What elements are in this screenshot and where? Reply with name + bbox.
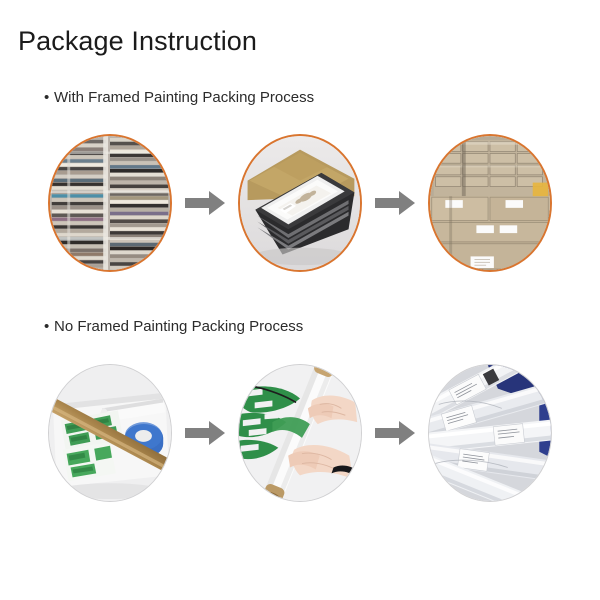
process-step-framed-stock: Stacked framed paintings in warehouse st… xyxy=(46,133,174,273)
arrow-connector-2 xyxy=(364,133,426,273)
section-heading-label: With Framed Painting Packing Process xyxy=(54,89,314,106)
rolled-canvas-and-tube-photo: Rolled canvas prints with kraft tube and… xyxy=(48,364,172,502)
bullet-icon: • xyxy=(44,88,54,108)
page-title: Package Instruction xyxy=(18,24,257,58)
arrow-right-icon xyxy=(375,190,415,216)
process-step-framed-pallet: Sealed cartons stacked and labelled read… xyxy=(426,133,554,273)
process-step-tube-insert: Hands inserting rolled canvas into a mai… xyxy=(236,363,364,503)
stacked-labelled-cartons-photo: Sealed cartons stacked and labelled read… xyxy=(428,134,552,272)
hands-rolling-canvas-photo: Hands inserting rolled canvas into a mai… xyxy=(238,364,362,502)
section-heading-no-framed: •No Framed Painting Packing Process xyxy=(44,317,303,337)
process-step-framed-boxing: Framed painting placed inside a cardboar… xyxy=(236,133,364,273)
arrow-connector-4 xyxy=(364,363,426,503)
process-step-packed-tubes: Wrapped and labelled tubes bundled for d… xyxy=(426,363,554,503)
process-row-no-framed: Rolled canvas prints with kraft tube and… xyxy=(0,363,600,503)
section-heading-label: No Framed Painting Packing Process xyxy=(54,318,303,335)
section-heading-with-framed: •With Framed Painting Packing Process xyxy=(44,88,314,108)
arrow-connector-1 xyxy=(174,133,236,273)
arrow-connector-3 xyxy=(174,363,236,503)
process-row-with-framed: Stacked framed paintings in warehouse st… xyxy=(0,133,600,273)
arrow-right-icon xyxy=(185,420,225,446)
arrow-right-icon xyxy=(185,190,225,216)
package-instruction-page: Package Instruction •With Framed Paintin… xyxy=(0,0,600,600)
process-step-rolled-canvas: Rolled canvas prints with kraft tube and… xyxy=(46,363,174,503)
framed-painting-in-carton-photo: Framed painting placed inside a cardboar… xyxy=(238,134,362,272)
arrow-right-icon xyxy=(375,420,415,446)
framed-paintings-stack-photo: Stacked framed paintings in warehouse st… xyxy=(48,134,172,272)
packed-labelled-tubes-photo: Wrapped and labelled tubes bundled for d… xyxy=(428,364,552,502)
bullet-icon: • xyxy=(44,317,54,337)
